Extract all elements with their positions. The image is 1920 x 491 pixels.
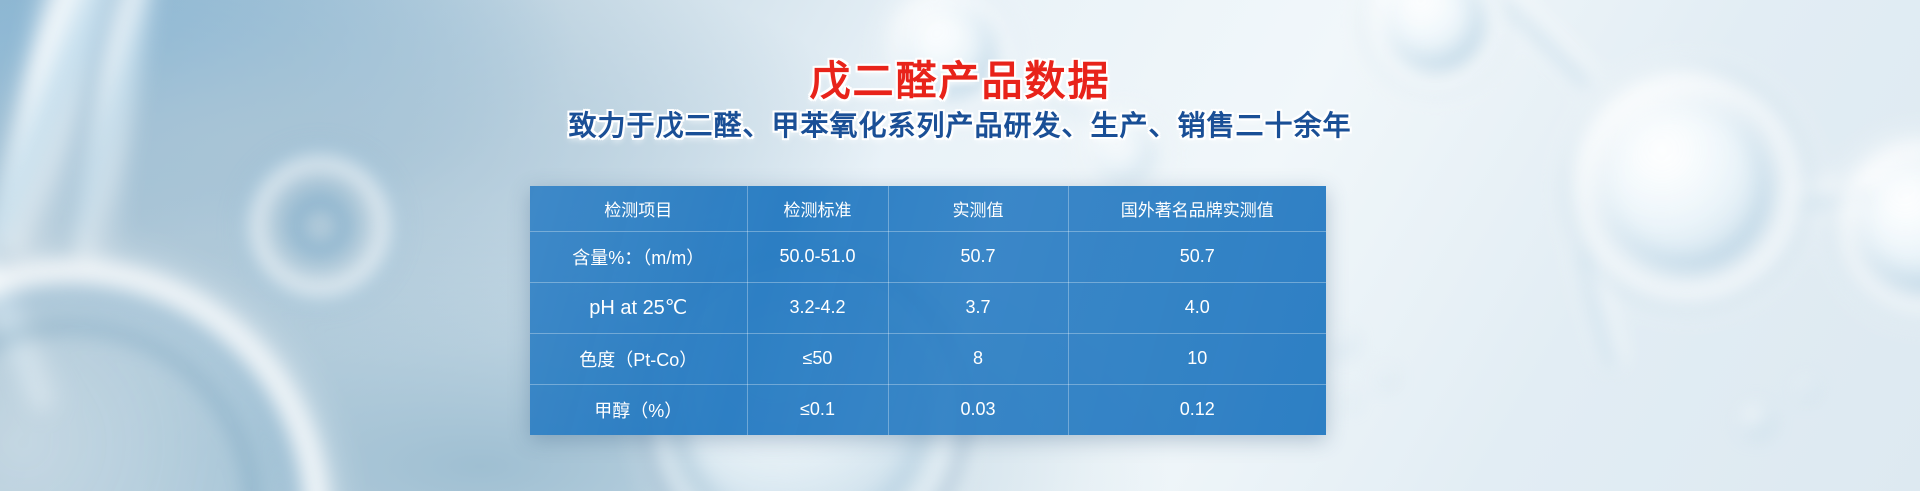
cell-item: pH at 25℃ — [530, 282, 747, 333]
table-row: pH at 25℃ 3.2-4.2 3.7 4.0 — [530, 282, 1326, 333]
cell-measured: 0.03 — [888, 384, 1068, 435]
cell-standard: ≤0.1 — [747, 384, 888, 435]
table-row: 甲醇（%） ≤0.1 0.03 0.12 — [530, 384, 1326, 435]
table-header-row: 检测项目 检测标准 实测值 国外著名品牌实测值 — [530, 186, 1326, 231]
cell-measured: 3.7 — [888, 282, 1068, 333]
cell-foreign-brand: 10 — [1068, 333, 1326, 384]
cell-measured: 8 — [888, 333, 1068, 384]
product-data-banner: 戊二醛产品数据 致力于戊二醛、甲苯氧化系列产品研发、生产、销售二十余年 检测项目… — [0, 0, 1920, 491]
cell-item: 色度（Pt-Co） — [530, 333, 747, 384]
cell-standard: ≤50 — [747, 333, 888, 384]
cell-standard: 50.0-51.0 — [747, 231, 888, 282]
page-title: 戊二醛产品数据 — [0, 47, 1920, 107]
column-header-standard: 检测标准 — [747, 186, 888, 231]
molecule-sphere-icon — [1830, 132, 1920, 322]
column-header-item: 检测项目 — [530, 186, 747, 231]
cell-item: 含量%：（m/m） — [530, 231, 747, 282]
cell-foreign-brand: 50.7 — [1068, 231, 1326, 282]
cell-foreign-brand: 4.0 — [1068, 282, 1326, 333]
cell-standard: 3.2-4.2 — [747, 282, 888, 333]
table-row: 含量%：（m/m） 50.0-51.0 50.7 50.7 — [530, 231, 1326, 282]
cell-item: 甲醇（%） — [530, 384, 747, 435]
column-header-foreign-brand: 国外著名品牌实测值 — [1068, 186, 1326, 231]
bubble-ring-icon — [250, 156, 390, 296]
page-subtitle: 致力于戊二醛、甲苯氧化系列产品研发、生产、销售二十余年 — [0, 104, 1920, 144]
table-row: 色度（Pt-Co） ≤50 8 10 — [530, 333, 1326, 384]
product-data-table: 检测项目 检测标准 实测值 国外著名品牌实测值 含量%：（m/m） 50.0-5… — [530, 186, 1326, 435]
cell-foreign-brand: 0.12 — [1068, 384, 1326, 435]
column-header-measured: 实测值 — [888, 186, 1068, 231]
cell-measured: 50.7 — [888, 231, 1068, 282]
